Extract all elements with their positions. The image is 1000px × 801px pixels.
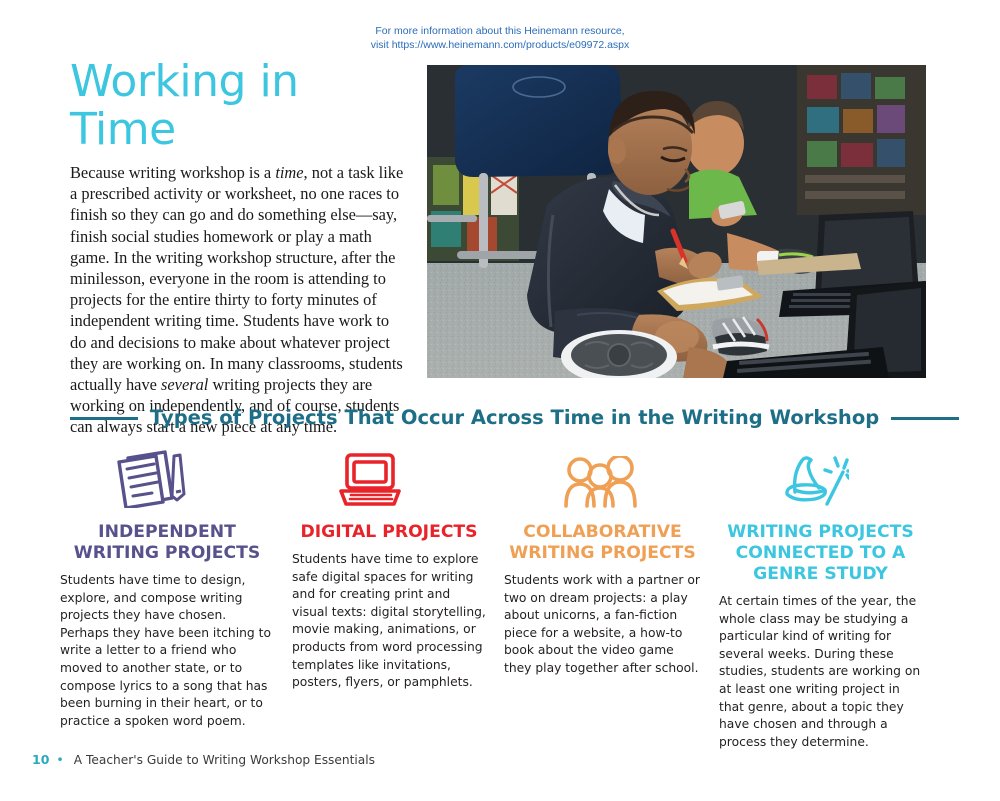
body-emphasis-several: several [161, 375, 208, 394]
body-text-segment-2: , not a task like a prescribed activity … [70, 163, 403, 394]
project-column-independent: INDEPENDENT WRITING PROJECTS Students ha… [60, 446, 292, 730]
section-banner: Types of Projects That Occur Across Time… [70, 406, 930, 430]
classroom-students-writing-photo [427, 65, 926, 378]
column-body-collaborative: Students work with a partner or two on d… [504, 572, 701, 678]
project-column-digital: DIGITAL PROJECTS Students have time to e… [292, 446, 504, 692]
page-title: Working in Time [70, 58, 405, 154]
column-heading-genre-study: WRITING PROJECTS CONNECTED TO A GENRE ST… [719, 522, 922, 585]
column-heading-digital: DIGITAL PROJECTS [292, 522, 486, 543]
footer-book-title: A Teacher's Guide to Writing Workshop Es… [74, 753, 375, 767]
body-emphasis-time: time [275, 163, 303, 182]
footer-separator-dot: • [56, 752, 63, 767]
wizard-hat-wand-icon [719, 446, 922, 508]
project-column-collaborative: COLLABORATIVE WRITING PROJECTS Students … [504, 446, 719, 678]
three-people-icon [504, 446, 701, 508]
section-banner-title: Types of Projects That Occur Across Time… [150, 406, 879, 430]
resource-note-line-1: For more information about this Heineman… [375, 25, 624, 37]
footer-page-number: 10 [32, 752, 49, 767]
laptop-icon [292, 446, 486, 508]
column-body-independent: Students have time to design, explore, a… [60, 572, 274, 730]
project-types-columns: INDEPENDENT WRITING PROJECTS Students ha… [60, 446, 940, 751]
body-text-segment-1: Because writing workshop is a [70, 163, 275, 182]
column-body-genre-study: At certain times of the year, the whole … [719, 593, 922, 751]
banner-rule-left [70, 417, 138, 420]
photo-illustration [427, 65, 926, 378]
page-footer: 10 • A Teacher's Guide to Writing Worksh… [32, 752, 375, 767]
resource-note-line-2[interactable]: visit https://www.heinemann.com/products… [0, 38, 1000, 52]
column-body-digital: Students have time to explore safe digit… [292, 551, 486, 692]
column-heading-independent: INDEPENDENT WRITING PROJECTS [60, 522, 274, 564]
heinemann-resource-note: For more information about this Heineman… [0, 24, 1000, 52]
project-column-genre-study: WRITING PROJECTS CONNECTED TO A GENRE ST… [719, 446, 940, 751]
article-intro-column: Working in Time Because writing workshop… [70, 58, 405, 438]
document-pencil-icon [60, 446, 274, 508]
column-heading-collaborative: COLLABORATIVE WRITING PROJECTS [504, 522, 701, 564]
article-body-paragraph: Because writing workshop is a time, not … [70, 162, 405, 438]
banner-rule-right [891, 417, 959, 420]
